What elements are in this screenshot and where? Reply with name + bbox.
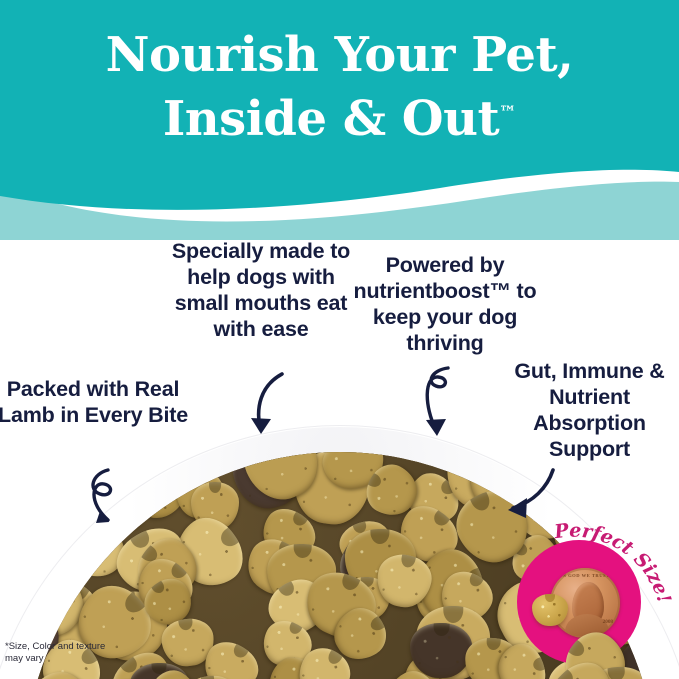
callout-gut-immune: Gut, Immune & Nutrient Absorption Suppor… bbox=[500, 358, 679, 462]
callout-nutrientboost: Powered by nutrientboost™ to keep your d… bbox=[352, 252, 538, 356]
callout-real-lamb: Packed with Real Lamb in Every Bite bbox=[0, 376, 188, 428]
arrow-down-curve-icon bbox=[242, 372, 298, 450]
headline-line-2: Inside & Out™ bbox=[0, 84, 679, 148]
badge-label-text: Perfect Size! bbox=[552, 519, 675, 605]
disclaimer-text: *Size, Color and texture may vary bbox=[5, 641, 115, 664]
header-banner: Nourish Your Pet, Inside & Out™ bbox=[0, 0, 679, 240]
trademark-symbol: ™ bbox=[499, 103, 516, 123]
headline-line-2-text: Inside & Out bbox=[163, 91, 499, 147]
arrow-down-loop-icon bbox=[412, 364, 470, 452]
kibble-body bbox=[372, 550, 436, 612]
callout-small-mouths: Specially made to help dogs with small m… bbox=[166, 238, 356, 342]
page-title: Nourish Your Pet, Inside & Out™ bbox=[0, 26, 679, 148]
arrow-down-loop-left-icon bbox=[78, 468, 148, 542]
headline-line-1: Nourish Your Pet, bbox=[106, 27, 574, 83]
promo-image: Nourish Your Pet, Inside & Out™ Speciall… bbox=[0, 0, 679, 679]
kibble-piece bbox=[372, 550, 436, 612]
